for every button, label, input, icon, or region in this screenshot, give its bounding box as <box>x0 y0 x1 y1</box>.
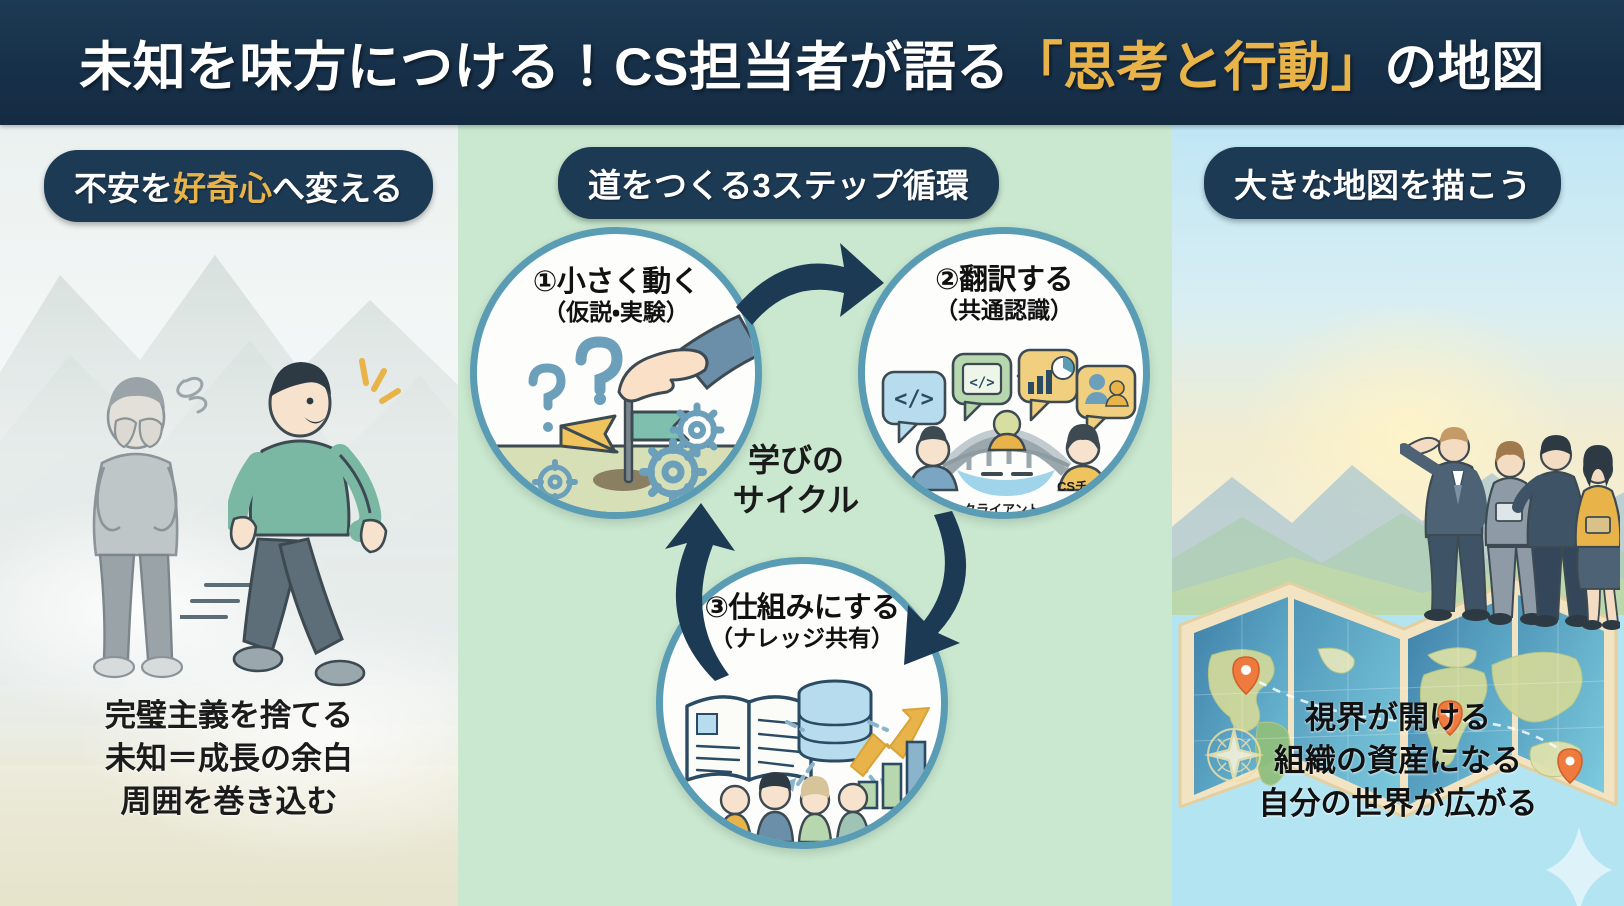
arrow-node2-to-node3 <box>848 505 988 685</box>
arrow-node1-to-node2 <box>728 235 888 345</box>
business-team-illustration <box>1400 425 1620 645</box>
svg-text:</>: </> <box>969 375 994 391</box>
chart-bubble-icon <box>1019 350 1077 420</box>
arrow-node3-to-node1 <box>613 495 743 695</box>
node-2-label-cs-team: CSチーム <box>1057 476 1114 495</box>
badge-left-pre: 不安を <box>74 162 173 210</box>
confident-walker-illustration <box>228 343 413 703</box>
caption-left-line-3: 周囲を巻き込む <box>0 781 458 824</box>
person-pointing-forward <box>1404 427 1490 621</box>
title-part-1: 未知を味方につける！CS担当者が語る <box>79 38 1010 97</box>
title-highlight: 「思考と行動」 <box>1010 38 1385 97</box>
anxious-person-illustration <box>78 355 228 685</box>
spark-icon <box>362 361 398 401</box>
badge-middle-label: 道をつくる3ステップ循環 <box>588 159 969 207</box>
node-2-translate[interactable]: </> </> <box>858 227 1150 519</box>
folder-icon <box>1586 517 1610 533</box>
header-bar: 未知を味方につける！CS担当者が語る「思考と行動」の地図 <box>0 0 1624 125</box>
node-2-title-sub: （共通認識） <box>865 298 1143 324</box>
cycle-label-line-1: 学びの <box>706 440 886 480</box>
svg-text:</>: </> <box>894 387 934 412</box>
panel-middle-cycle: 道をつくる3ステップ循環 <box>458 125 1172 906</box>
window-code-bubble-icon: </> <box>953 354 1011 420</box>
badge-left[interactable]: 不安を好奇心へ変える <box>44 150 433 222</box>
node-2-title: ②翻訳する （共通認識） <box>865 264 1143 324</box>
node-1-title-main: ①小さく動く <box>477 266 755 298</box>
caption-left-line-2: 未知＝成長の余白 <box>0 738 458 781</box>
node-2-label-dev: 開発 <box>887 476 913 495</box>
page-title: 未知を味方につける！CS担当者が語る「思考と行動」の地図 <box>79 25 1545 101</box>
database-icon <box>799 681 871 761</box>
badge-right[interactable]: 大きな地図を描こう <box>1204 147 1561 219</box>
node-2-title-main: ②翻訳する <box>865 264 1143 296</box>
infographic-canvas: 未知を味方につける！CS担当者が語る「思考と行動」の地図 <box>0 0 1624 906</box>
badge-left-highlight: 好奇心 <box>173 162 272 210</box>
cycle-center-label: 学びの サイクル <box>706 440 886 520</box>
panel-right-vision: 大きな地図を描こう 視界が開ける 組織の資産になる 自分の世界が広がる <box>1172 125 1624 906</box>
title-part-2: の地図 <box>1384 38 1545 97</box>
water-icon <box>957 470 1055 496</box>
sparkle-icon <box>1544 825 1614 906</box>
node-1-title: ①小さく動く （仮説・実験） <box>477 266 755 326</box>
caption-right: 視界が開ける 組織の資産になる 自分の世界が広がる <box>1172 697 1624 825</box>
cycle-label-line-2: サイクル <box>706 480 886 520</box>
badge-right-label: 大きな地図を描こう <box>1234 159 1531 207</box>
caption-right-line-1: 視界が開ける <box>1172 697 1624 740</box>
panel-left-anxiety: 不安を好奇心へ変える 完璧主義を捨てる 未知＝成長の余白 周囲を巻き込む <box>0 125 458 906</box>
badge-left-post: へ変える <box>272 162 403 210</box>
caption-right-line-3: 自分の世界が広がる <box>1172 783 1624 826</box>
hand-icon <box>619 350 707 401</box>
node-1-title-sub: （仮説・実験） <box>477 300 755 326</box>
open-book-icon <box>687 697 811 780</box>
person-icon <box>989 411 1025 450</box>
badge-middle[interactable]: 道をつくる3ステップ循環 <box>558 147 999 219</box>
caption-right-line-2: 組織の資産になる <box>1172 740 1624 783</box>
caption-left: 完璧主義を捨てる 未知＝成長の余白 周囲を巻き込む <box>0 695 458 823</box>
caption-left-line-1: 完璧主義を捨てる <box>0 695 458 738</box>
